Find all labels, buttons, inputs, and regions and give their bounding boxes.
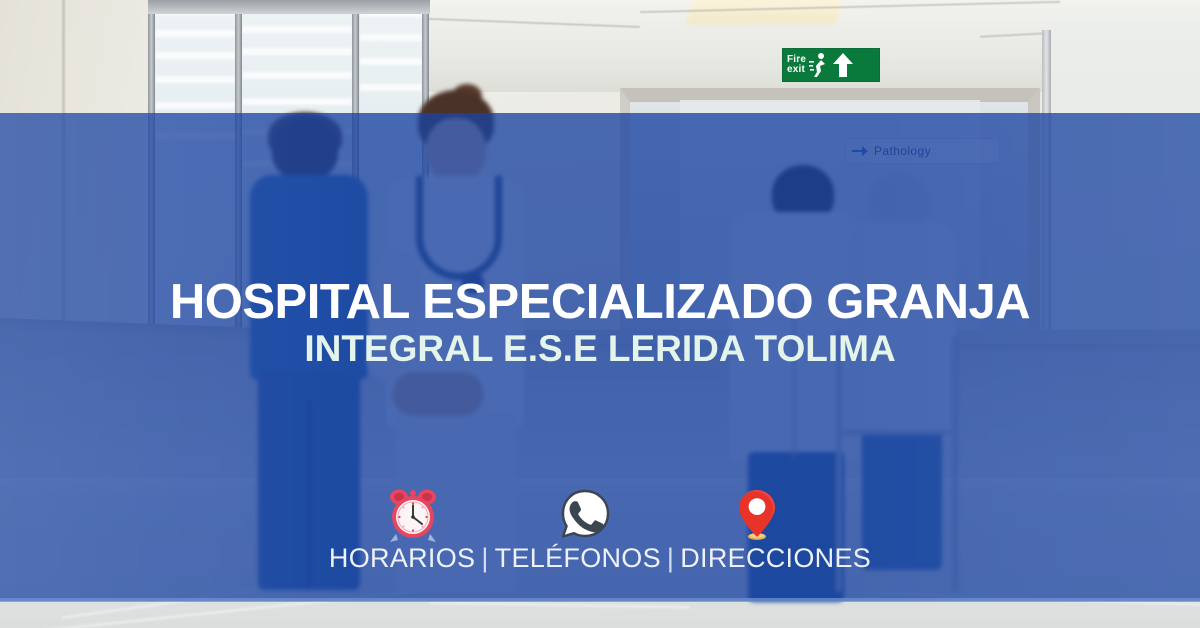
banner-content: HOSPITAL ESPECIALIZADO GRANJA INTEGRAL E… <box>0 113 1200 601</box>
link-telefonos[interactable]: TELÉFONOS <box>495 543 661 573</box>
whatsapp-icon <box>556 486 614 544</box>
ceiling-light <box>686 0 845 24</box>
page-title: HOSPITAL ESPECIALIZADO GRANJA <box>0 276 1200 328</box>
window-head <box>148 0 430 14</box>
link-direcciones[interactable]: DIRECCIONES <box>680 543 871 573</box>
icon-row <box>0 486 1200 544</box>
page-subtitle: INTEGRAL E.S.E LERIDA TOLIMA <box>0 329 1200 369</box>
running-man-icon <box>809 52 829 78</box>
up-arrow-icon <box>832 52 854 78</box>
alarm-clock-icon <box>384 486 442 544</box>
location-pin-icon <box>728 486 786 544</box>
hospital-banner: Fire exit Pathology <box>0 0 1200 628</box>
links-row: HORARIOS|TELÉFONOS|DIRECCIONES <box>0 541 1200 575</box>
link-horarios[interactable]: HORARIOS <box>329 543 475 573</box>
fire-exit-sign: Fire exit <box>782 48 880 82</box>
link-separator: | <box>661 543 680 573</box>
link-separator: | <box>475 543 494 573</box>
fire-exit-line-2: exit <box>787 65 806 75</box>
